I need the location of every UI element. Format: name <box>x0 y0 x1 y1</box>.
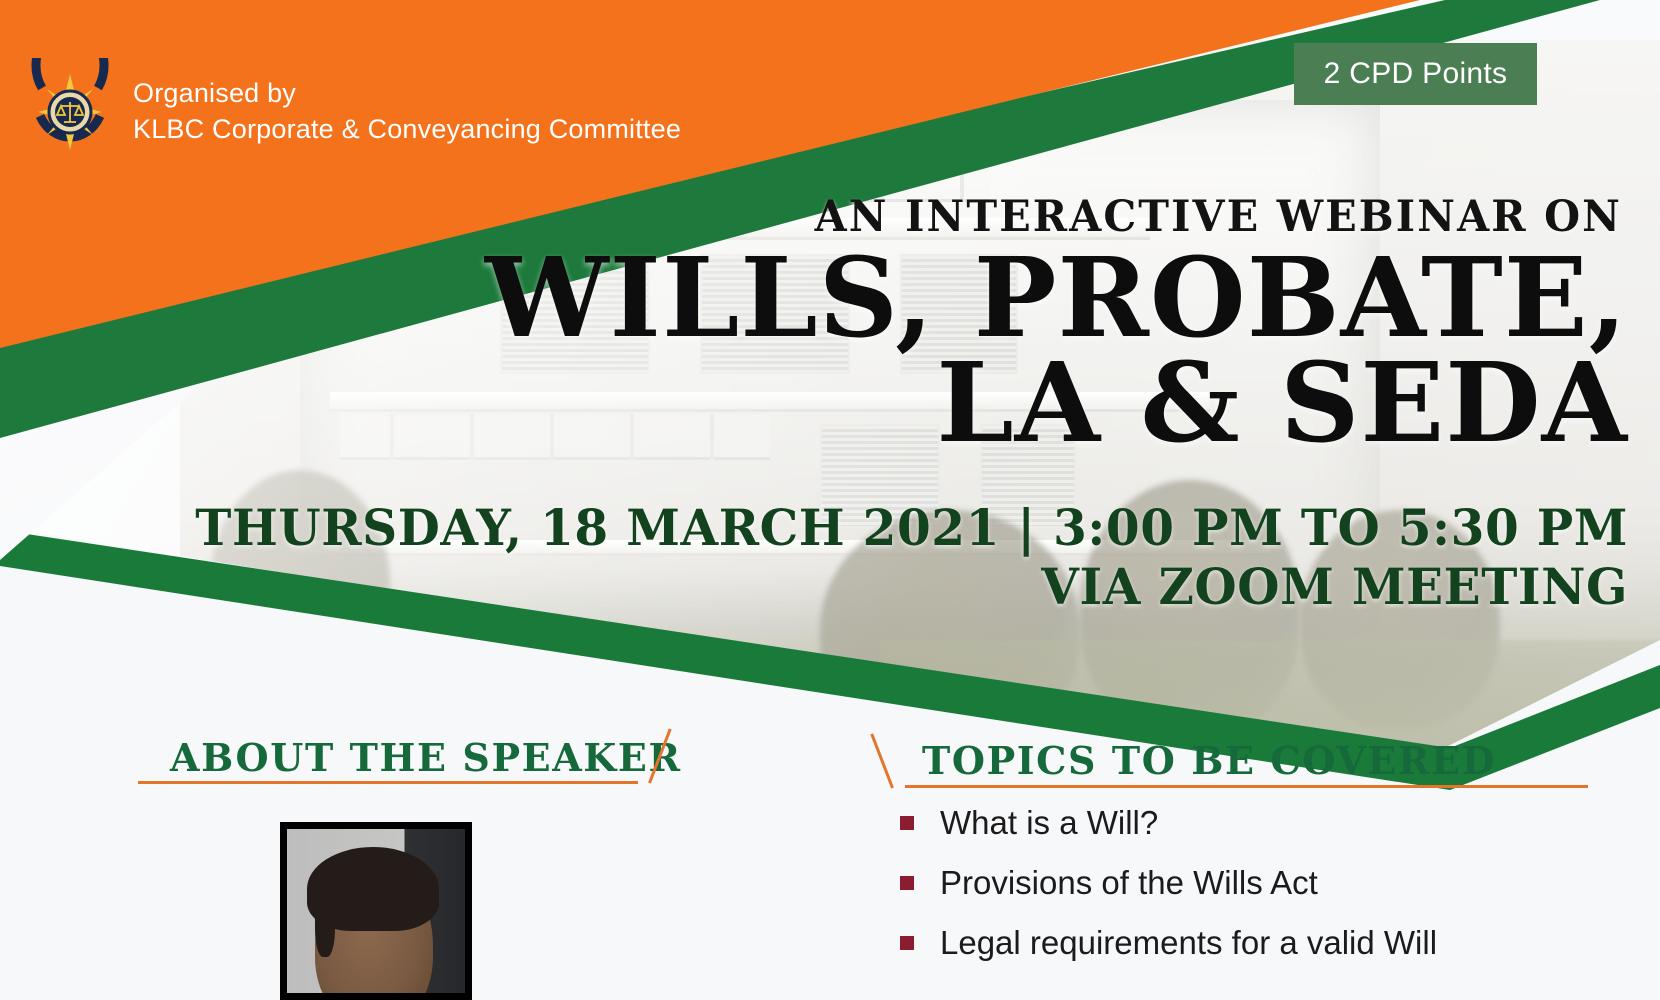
speaker-hair <box>307 847 439 931</box>
topic-label: Provisions of the Wills Act <box>940 860 1318 907</box>
square-bullet-icon <box>900 876 914 890</box>
event-date-time: THURSDAY, 18 MARCH 2021 | 3:00 PM TO 5:3… <box>195 498 1628 557</box>
topics-list: What is a Will? Provisions of the Wills … <box>900 800 1640 980</box>
speaker-portrait <box>280 822 472 1000</box>
square-bullet-icon <box>900 816 914 830</box>
about-speaker-heading: ABOUT THE SPEAKER <box>170 735 682 780</box>
hero-block: AN INTERACTIVE WEBINAR ON WILLS, PROBATE… <box>0 0 1660 700</box>
event-title: WILLS, PROBATE, LA & SEDA <box>485 246 1628 455</box>
about-speaker-underline <box>138 781 638 784</box>
webinar-poster: Organised by KLBC Corporate & Conveyanci… <box>0 0 1660 1000</box>
event-title-line-2: LA & SEDA <box>485 351 1628 456</box>
list-item: What is a Will? <box>900 800 1640 847</box>
list-item: Provisions of the Wills Act <box>900 860 1640 907</box>
event-platform: VIA ZOOM MEETING <box>195 557 1628 616</box>
square-bullet-icon <box>900 936 914 950</box>
topics-heading: TOPICS TO BE COVERED <box>922 738 1496 783</box>
topic-label: What is a Will? <box>940 800 1158 847</box>
list-item: Legal requirements for a valid Will <box>900 920 1640 967</box>
topic-label: Legal requirements for a valid Will <box>940 920 1437 967</box>
event-datetime: THURSDAY, 18 MARCH 2021 | 3:00 PM TO 5:3… <box>195 498 1628 616</box>
topics-underline <box>905 785 1588 788</box>
